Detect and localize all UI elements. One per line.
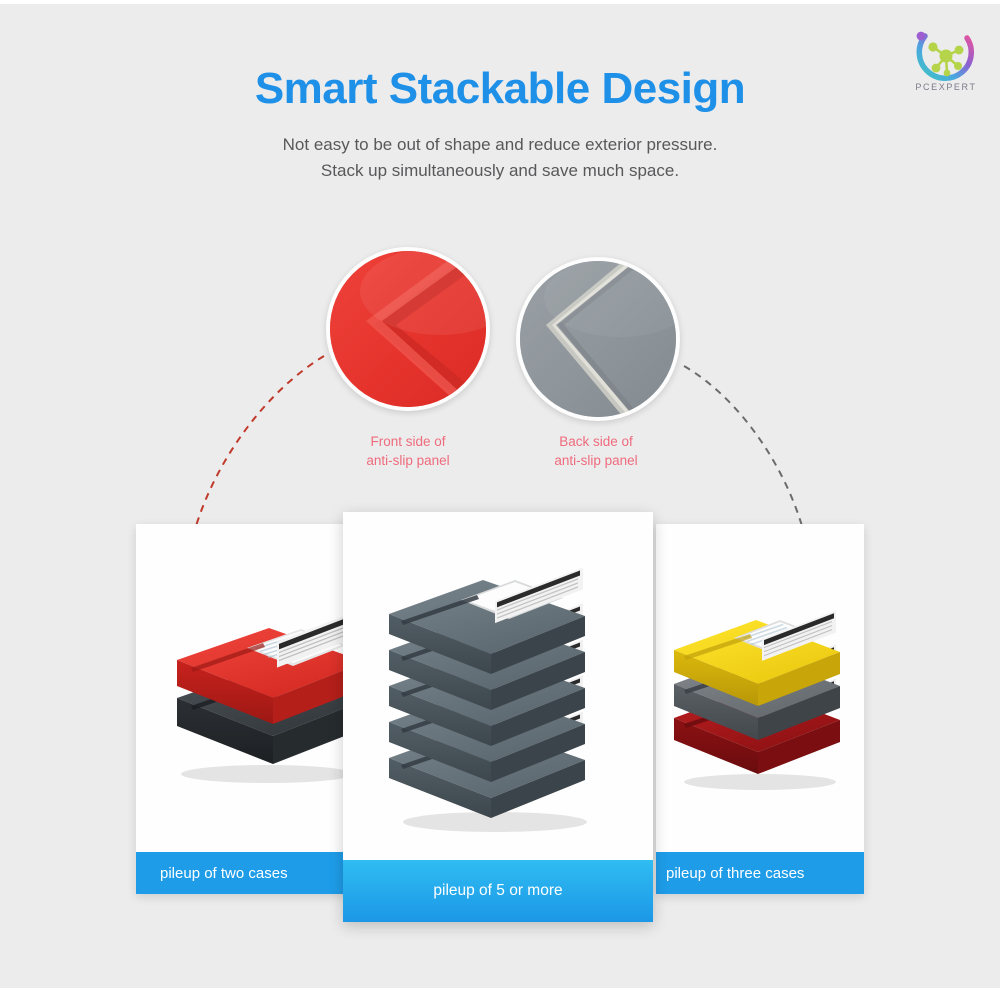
- front-panel-caption: Front side of anti-slip panel: [308, 432, 508, 470]
- page-title: Smart Stackable Design: [0, 64, 1000, 114]
- back-panel-caption-line-1: Back side of: [496, 432, 696, 451]
- subtitle-line-1: Not easy to be out of shape and reduce e…: [0, 132, 1000, 158]
- product-photo-three-cases: [656, 524, 864, 852]
- back-panel-detail-circle: [516, 257, 680, 421]
- front-panel-caption-line-1: Front side of: [308, 432, 508, 451]
- connector-gray: [684, 366, 802, 526]
- connector-red: [196, 356, 324, 526]
- caption-pileup-three-label: pileup of three cases: [666, 865, 804, 882]
- back-panel-caption-line-2: anti-slip panel: [496, 451, 696, 470]
- back-panel-caption: Back side of anti-slip panel: [496, 432, 696, 470]
- page-canvas: PCEXPERT Smart Stackable Design Not easy…: [0, 4, 1000, 988]
- page-band-bottom: [0, 988, 1000, 1000]
- card-pileup-three[interactable]: pileup of three cases: [656, 524, 864, 894]
- product-photo-five-cases: [343, 512, 653, 860]
- caption-pileup-five-label: pileup of 5 or more: [433, 882, 562, 900]
- caption-pileup-three: pileup of three cases: [656, 852, 864, 894]
- page-subtitle: Not easy to be out of shape and reduce e…: [0, 132, 1000, 184]
- card-pileup-five[interactable]: pileup of 5 or more: [343, 512, 653, 922]
- caption-pileup-two-label: pileup of two cases: [160, 865, 288, 882]
- caption-pileup-five: pileup of 5 or more: [343, 860, 653, 922]
- front-panel-detail-circle: [326, 247, 490, 411]
- front-panel-caption-line-2: anti-slip panel: [308, 451, 508, 470]
- subtitle-line-2: Stack up simultaneously and save much sp…: [0, 158, 1000, 184]
